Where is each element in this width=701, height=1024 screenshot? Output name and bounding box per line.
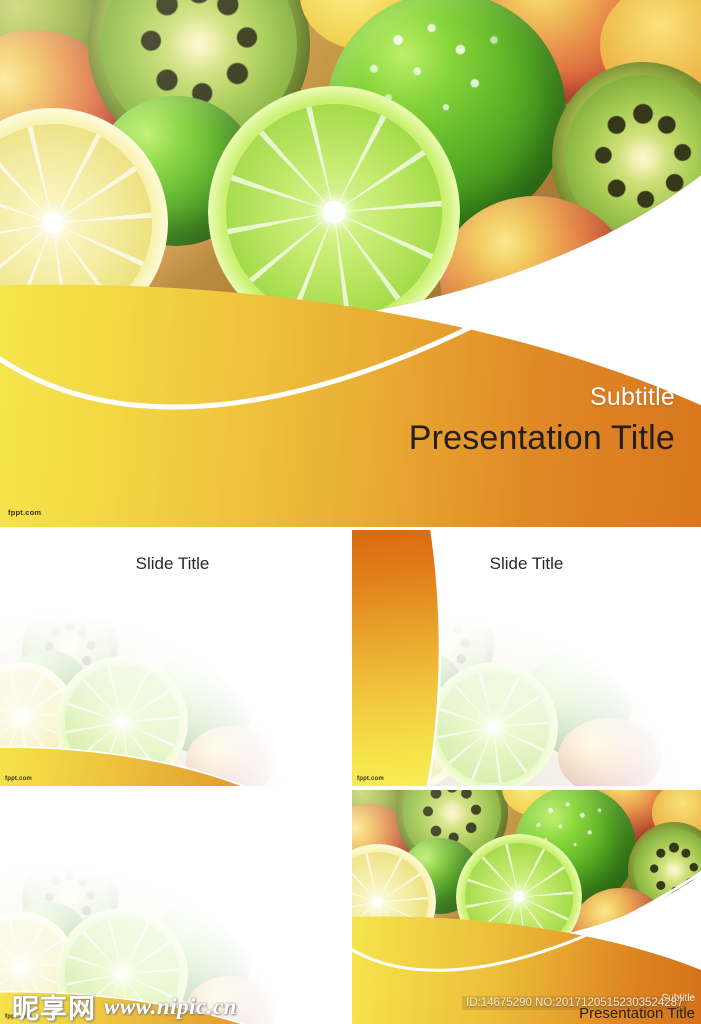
fppt-watermark-hero: fppt.com	[8, 508, 41, 517]
thumb4-curve-stroke	[352, 790, 701, 1024]
hero-subtitle: Subtitle	[409, 385, 675, 410]
thumb-slide-title-left[interactable]: Slide Title fppt.com	[0, 530, 345, 786]
presentation-template-preview: Subtitle Presentation Title fppt.com	[0, 0, 701, 1024]
hero-text-block: Subtitle Presentation Title	[409, 385, 675, 457]
thumb-slide-cover-right[interactable]: Subtitle Presentation Title	[352, 790, 701, 1024]
hero-title: Presentation Title	[409, 420, 675, 457]
fppt-watermark-thumb1: fppt.com	[5, 776, 32, 782]
fppt-watermark-thumb2: fppt.com	[357, 776, 384, 782]
id-stamp: ID:14675290 NO:20171205152303524287	[462, 996, 687, 1010]
thumb1-title: Slide Title	[0, 554, 345, 574]
thumb2-title: Slide Title	[352, 554, 701, 574]
thumb-slide-title-right[interactable]: Slide Title fppt.com	[352, 530, 701, 786]
hero-slide[interactable]: Subtitle Presentation Title fppt.com	[0, 0, 701, 527]
thumb-slide-blank-left[interactable]: fppt.com	[0, 790, 345, 1024]
thumb3-faded-photo	[0, 790, 345, 1024]
fppt-watermark-thumb3: fppt.com	[5, 1014, 32, 1020]
